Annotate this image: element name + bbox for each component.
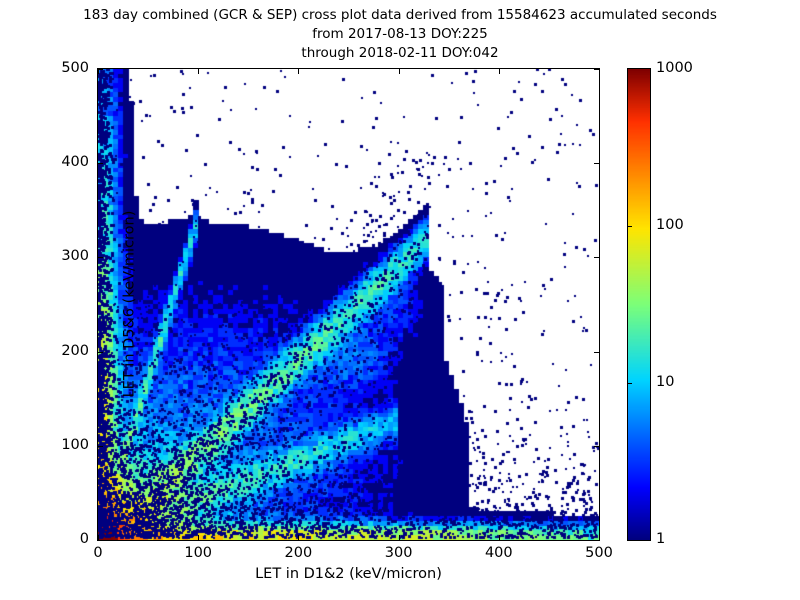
colorbar-tick-label: 10 [656, 374, 674, 390]
x-tick [298, 535, 299, 540]
colorbar-gradient [628, 69, 650, 540]
y-tick [98, 163, 103, 164]
y-tick-label: 100 [27, 438, 89, 452]
x-tick [399, 69, 400, 74]
colorbar [627, 68, 651, 541]
colorbar-tick [628, 383, 632, 384]
x-tick [198, 535, 199, 540]
y-tick [98, 540, 103, 541]
y-tick [594, 540, 599, 541]
y-tick-label: 200 [27, 344, 89, 358]
x-tick-label: 100 [158, 545, 238, 561]
y-tick-label: 0 [27, 532, 89, 546]
x-tick [599, 535, 600, 540]
plot-area [97, 68, 600, 541]
colorbar-tick-label: 1000 [656, 60, 693, 76]
y-tick [98, 352, 103, 353]
figure-title-line-2: from 2017-08-13 DOY:225 [0, 26, 800, 42]
figure-canvas: 183 day combined (GCR & SEP) cross plot … [0, 0, 800, 600]
y-tick [594, 257, 599, 258]
y-tick [98, 446, 103, 447]
x-tick [399, 535, 400, 540]
figure-title-line-3: through 2018-02-11 DOY:042 [0, 45, 800, 61]
y-tick-label: 400 [27, 155, 89, 169]
colorbar-tick [628, 226, 632, 227]
x-axis-title: LET in D1&2 (keV/micron) [97, 566, 600, 582]
colorbar-tick-label: 1 [656, 531, 665, 547]
y-tick-label: 300 [27, 249, 89, 263]
figure-title-line-1: 183 day combined (GCR & SEP) cross plot … [0, 7, 800, 23]
y-axis-title: LET in D5&6 (keV/micron) [122, 68, 138, 541]
y-tick [594, 352, 599, 353]
y-tick [594, 446, 599, 447]
y-tick [594, 69, 599, 70]
y-tick [98, 69, 103, 70]
x-tick-label: 200 [258, 545, 338, 561]
y-tick [594, 163, 599, 164]
colorbar-tick-label: 100 [656, 217, 684, 233]
y-tick-label: 500 [27, 61, 89, 75]
density-heatmap [98, 69, 599, 540]
x-tick [298, 69, 299, 74]
x-tick-label: 400 [459, 545, 539, 561]
x-tick-label: 500 [559, 545, 639, 561]
x-tick [599, 69, 600, 74]
x-tick [499, 535, 500, 540]
x-tick-label: 0 [58, 545, 138, 561]
y-tick [98, 257, 103, 258]
x-tick [198, 69, 199, 74]
x-tick [499, 69, 500, 74]
x-tick-label: 300 [359, 545, 439, 561]
